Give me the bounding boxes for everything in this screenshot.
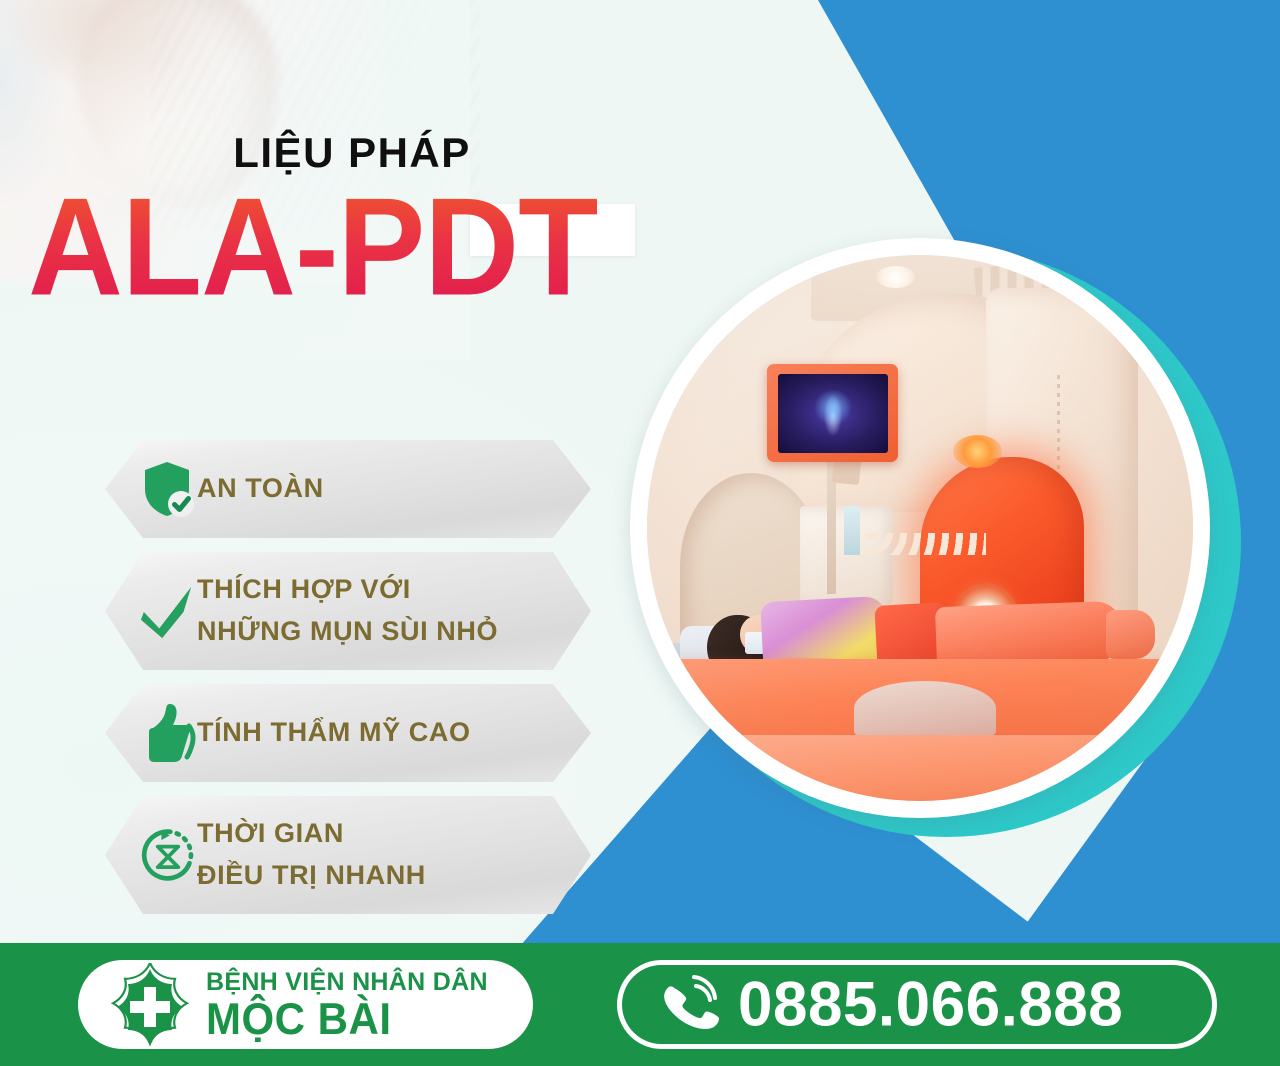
feature-badge-tham-my[interactable]: TÍNH THẨM MỸ CAO xyxy=(105,684,591,782)
feature-label: THỜI GIAN ĐIỀU TRỊ NHANH xyxy=(197,813,591,897)
feature-line-2: ĐIỀU TRỊ NHANH xyxy=(197,855,565,897)
feature-label: AN TOÀN xyxy=(197,468,591,510)
page-title: ALA-PDT xyxy=(28,178,597,317)
phone-pill[interactable]: 0885.066.888 xyxy=(617,960,1217,1049)
hospital-name: BỆNH VIỆN NHÂN DÂN MỘC BÀI xyxy=(200,969,488,1039)
treatment-photo-scene xyxy=(647,255,1193,801)
poster-canvas: LIỆU PHÁP ALA-PDT xyxy=(0,0,1280,1066)
clock-hourglass-icon xyxy=(105,824,197,886)
thumbs-up-icon xyxy=(105,702,197,764)
phone-ringing-icon xyxy=(658,974,730,1036)
feature-label: TÍNH THẨM MỸ CAO xyxy=(197,712,591,754)
feature-line-2: NHỮNG MỤN SÙI NHỎ xyxy=(197,611,565,653)
hospital-cross-logo-icon xyxy=(108,963,200,1047)
treatment-photo xyxy=(647,255,1193,801)
feature-line-1: THÍCH HỢP VỚI xyxy=(197,569,565,611)
title-block: LIỆU PHÁP ALA-PDT xyxy=(0,132,680,307)
phone-number: 0885.066.888 xyxy=(730,973,1123,1036)
check-mark-icon xyxy=(105,582,197,640)
feature-badge-an-toan[interactable]: AN TOÀN xyxy=(105,440,591,538)
feature-line-1: AN TOÀN xyxy=(197,473,324,503)
hospital-logo-pill[interactable]: BỆNH VIỆN NHÂN DÂN MỘC BÀI xyxy=(78,960,533,1049)
feature-badge-thich-hop[interactable]: THÍCH HỢP VỚI NHỮNG MỤN SÙI NHỎ xyxy=(105,552,591,670)
hospital-name-line-2: MỘC BÀI xyxy=(206,996,488,1042)
title-main-wrap: ALA-PDT xyxy=(0,182,680,307)
footer-bar: BỆNH VIỆN NHÂN DÂN MỘC BÀI 0885.066.888 xyxy=(0,943,1280,1066)
feature-line-1: THỜI GIAN xyxy=(197,813,565,855)
feature-label: THÍCH HỢP VỚI NHỮNG MỤN SÙI NHỎ xyxy=(197,569,591,653)
hospital-name-line-1: BỆNH VIỆN NHÂN DÂN xyxy=(206,969,488,995)
feature-list: AN TOÀN THÍCH HỢP VỚI NHỮNG MỤN SÙI NHỎ xyxy=(0,440,620,914)
feature-badge-thoi-gian[interactable]: THỜI GIAN ĐIỀU TRỊ NHANH xyxy=(105,796,591,914)
shield-check-icon xyxy=(105,459,197,519)
feature-line-1: TÍNH THẨM MỸ CAO xyxy=(197,717,471,747)
title-kicker: LIỆU PHÁP xyxy=(0,132,680,174)
